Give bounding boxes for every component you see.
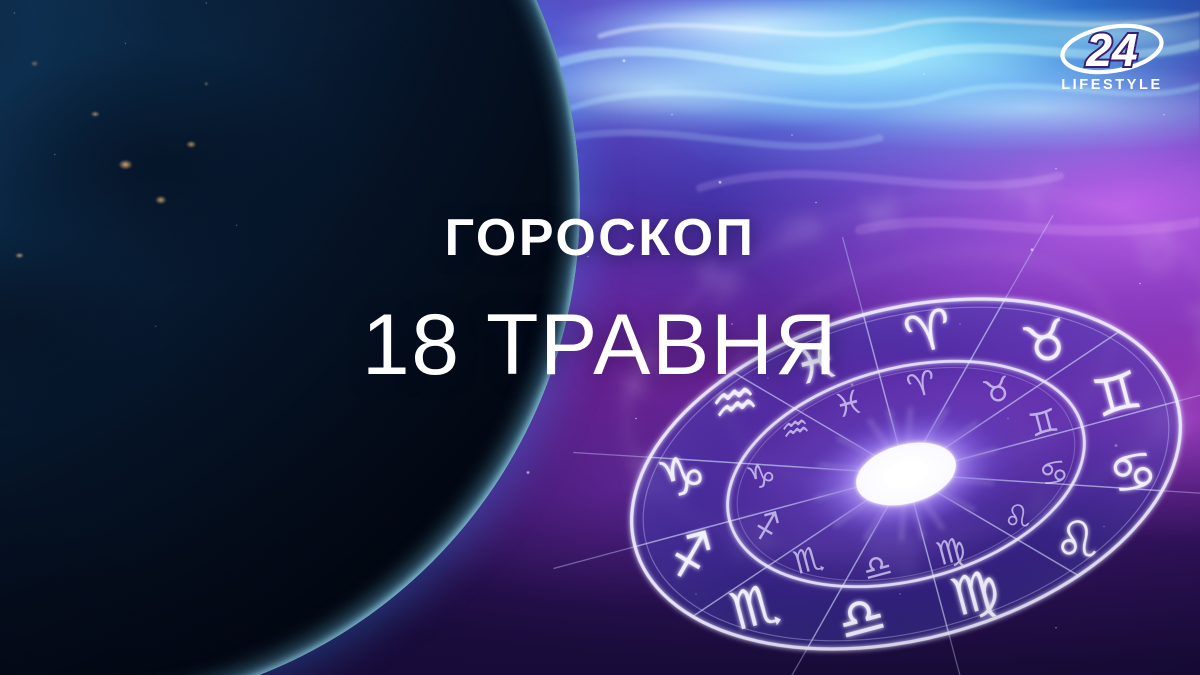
svg-text:♓: ♓: [847, 176, 916, 257]
svg-text:♈: ♈: [998, 161, 1067, 242]
zodiac-wheel: ♓ ♈ ♉ ♊ ♋ ♌ ♍ ♎ ♏ ♐ ♑ ♒ ♓ ♈ ♉: [608, 268, 1200, 675]
svg-text:♒: ♒: [765, 193, 834, 274]
logo-tagline: LIFESTYLE: [1052, 78, 1172, 93]
svg-text:24: 24: [1085, 24, 1137, 76]
logo-24-mark: 24 24: [1052, 22, 1172, 80]
horoscope-banner: ♓ ♈ ♉ ♊ ♋ ♌ ♍ ♎ ♏ ♐ ♑ ♒: [0, 0, 1200, 675]
channel-logo[interactable]: 24 24 LIFESTYLE: [1052, 22, 1172, 108]
